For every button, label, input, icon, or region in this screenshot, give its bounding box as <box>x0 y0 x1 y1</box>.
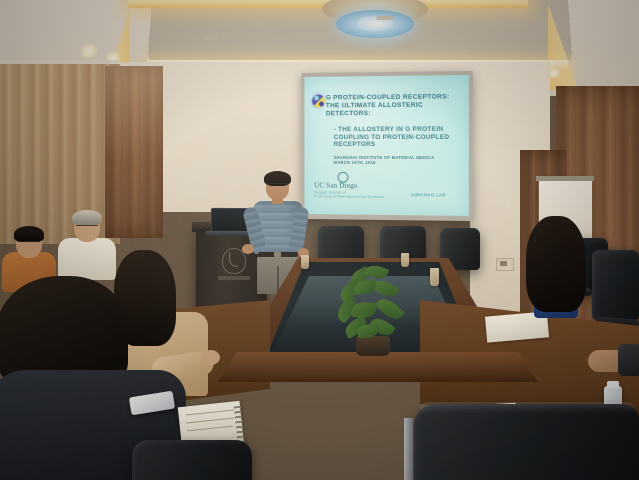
eyeglasses-icon <box>267 183 288 189</box>
chandelier <box>322 0 428 46</box>
attendee-beige-hand <box>202 350 220 365</box>
slide-date-line: March 16th, 2016 <box>334 161 460 166</box>
plant-leaf <box>365 263 390 281</box>
chair-foreground-right <box>414 404 639 480</box>
slide-title: G Protein-Coupled Receptors: The Ultimat… <box>326 93 460 117</box>
drinking-glass <box>401 253 409 267</box>
attendee-sleeve <box>618 344 639 376</box>
ucsd-school-line2: Pharmacy & Pharmaceutical Sciences <box>314 194 375 198</box>
ceiling-speaker-grille <box>376 16 393 20</box>
attendee-orange-hair <box>14 226 44 242</box>
projection-screen: G Protein-Coupled Receptors: The Ultimat… <box>302 71 473 221</box>
slide-subtitle: - The Allostery in G Protein Coupling to… <box>334 126 462 149</box>
conference-room-photo: G Protein-Coupled Receptors: The Ultimat… <box>0 0 639 480</box>
plant-pot <box>356 336 390 356</box>
attendee-blue-hair <box>526 216 586 312</box>
ceiling-speaker-grille <box>254 19 270 23</box>
eyeglasses-icon <box>18 241 40 246</box>
table-plant <box>320 262 430 358</box>
downlight-icon <box>78 44 100 58</box>
eyeglasses-icon <box>76 225 98 230</box>
ucsd-name: UC San Diego <box>314 182 375 190</box>
presenter-leg-seam <box>277 266 279 294</box>
water-bottle-cap <box>607 381 619 388</box>
presenter-left-hand <box>242 244 254 254</box>
attendee-blue-top <box>524 216 588 324</box>
flipchart-clamp <box>536 176 594 181</box>
belt-buckle-icon <box>274 252 281 257</box>
slide-venue-block: Shanghai Institute of Material Medica Ma… <box>334 156 460 166</box>
yin-yang-dot-light <box>314 96 319 101</box>
chair-foreground-left <box>132 440 252 480</box>
ucsd-trident-circle-icon <box>338 172 349 183</box>
ucsd-logo: UC San Diego Skaggs School of Pharmacy &… <box>314 182 375 199</box>
ceiling-speaker-grille <box>490 21 505 25</box>
drinking-glass <box>430 268 439 286</box>
attendee-white-hair <box>72 210 102 225</box>
attendee-right-hand <box>588 344 639 380</box>
wall-outlet <box>500 261 507 266</box>
drinking-glass <box>301 255 309 269</box>
chair-metal-post <box>404 418 413 480</box>
chair-foreground-right-highlight <box>420 402 634 414</box>
chair-right <box>592 250 639 320</box>
ceiling-speaker-grille <box>204 36 218 40</box>
yin-yang-dot-dark <box>319 101 324 106</box>
slide-lab-credit: Junchao Lab <box>411 192 446 197</box>
projected-slide: G Protein-Coupled Receptors: The Ultimat… <box>304 75 468 216</box>
podium-nameplate <box>218 276 250 280</box>
